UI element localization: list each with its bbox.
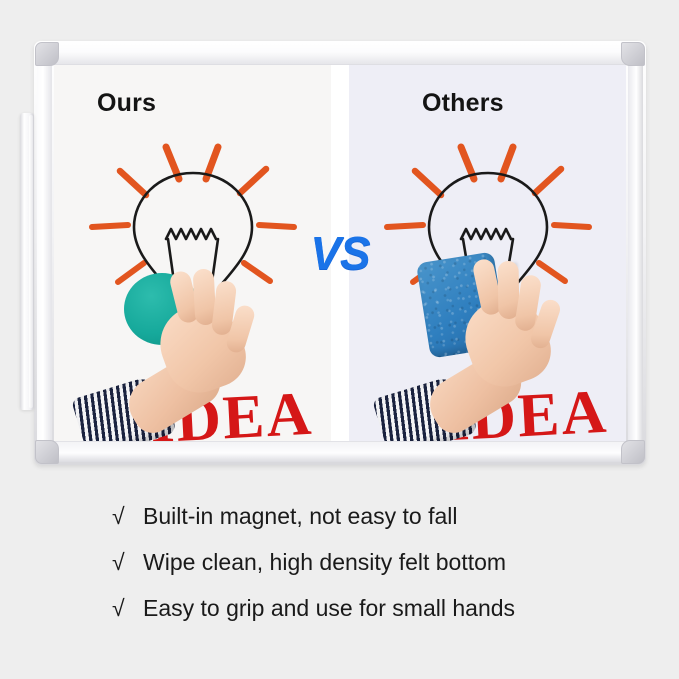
feature-item: √ Wipe clean, high density felt bottom [112, 549, 612, 595]
frame-bar-left [37, 47, 52, 459]
frame-corner-bottom-right [621, 440, 645, 464]
pen-tray-rail [20, 113, 34, 410]
panel-title-ours: Ours [97, 89, 156, 118]
frame-corner-top-right [621, 42, 645, 66]
feature-item: √ Built-in magnet, not easy to fall [112, 503, 612, 549]
feature-list: √ Built-in magnet, not easy to fall √ Wi… [112, 503, 612, 641]
hand-holding-rectangular-eraser [379, 251, 579, 441]
feature-item: √ Easy to grip and use for small hands [112, 595, 612, 641]
feature-text: Built-in magnet, not easy to fall [143, 503, 458, 530]
comparison-panel-others: Others [349, 65, 626, 441]
whiteboard-product-image: Ours [34, 41, 646, 465]
comparison-panel-ours: Ours [54, 65, 331, 441]
feature-text: Wipe clean, high density felt bottom [143, 549, 506, 576]
vs-badge: VS [310, 226, 369, 280]
check-mark-icon: √ [112, 549, 143, 576]
frame-corner-top-left [35, 42, 59, 66]
feature-text: Easy to grip and use for small hands [143, 595, 515, 622]
check-mark-icon: √ [112, 503, 143, 530]
panel-title-others: Others [422, 89, 504, 118]
board-surface: Ours [54, 65, 626, 441]
frame-corner-bottom-left [35, 440, 59, 464]
hand-holding-round-eraser [78, 261, 268, 441]
frame-bar-bottom [40, 441, 640, 462]
frame-bar-top [40, 44, 640, 65]
check-mark-icon: √ [112, 595, 143, 622]
frame-bar-right [628, 47, 643, 459]
